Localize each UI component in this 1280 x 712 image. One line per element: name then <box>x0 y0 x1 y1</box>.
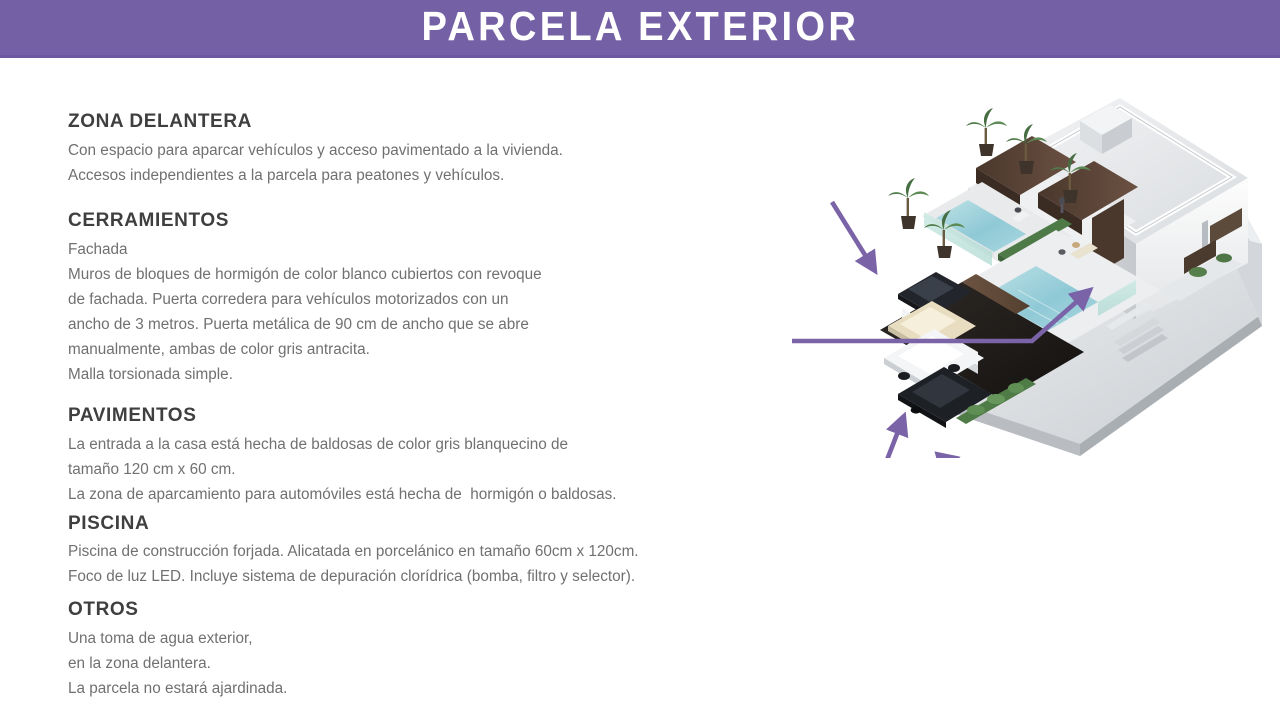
section-spacer <box>68 188 788 210</box>
section-heading-zona-delantera: ZONA DELANTERA <box>68 111 788 133</box>
section-heading-pavimentos: PAVIMENTOS <box>68 405 788 427</box>
section-heading-cerramientos: CERRAMIENTOS <box>68 210 788 232</box>
arrow-zona-aparcamiento <box>832 202 875 271</box>
spec-section-cerramientos: CERRAMIENTOS Fachada Muros de bloques de… <box>68 210 788 387</box>
arrow-aparcamiento-inferior <box>880 416 904 458</box>
spec-section-piscina: PISCINA Piscina de construcción forjada.… <box>68 513 788 590</box>
house-render-illustration <box>780 58 1280 458</box>
section-body-pavimentos: La entrada a la casa está hecha de baldo… <box>68 432 788 507</box>
house-render-svg <box>780 58 1280 458</box>
section-spacer <box>68 589 788 599</box>
section-body-cerramientos: Fachada Muros de bloques de hormigón de … <box>68 237 788 387</box>
specifications-list: ZONA DELANTERA Con espacio para aparcar … <box>68 111 788 701</box>
header-banner: PARCELA EXTERIOR <box>0 0 1280 58</box>
palm-planter-deck <box>888 178 929 229</box>
section-heading-otros: OTROS <box>68 599 788 621</box>
section-heading-piscina: PISCINA <box>68 513 788 535</box>
spec-section-otros: OTROS Una toma de agua exterior, en la z… <box>68 599 788 701</box>
spec-section-zona-delantera: ZONA DELANTERA Con espacio para aparcar … <box>68 111 788 188</box>
section-body-piscina: Piscina de construcción forjada. Alicata… <box>68 539 788 589</box>
page-title: PARCELA EXTERIOR <box>421 6 859 47</box>
section-body-zona-delantera: Con espacio para aparcar vehículos y acc… <box>68 138 788 188</box>
spec-section-pavimentos: PAVIMENTOS La entrada a la casa está hec… <box>68 405 788 507</box>
section-spacer <box>68 387 788 405</box>
section-body-otros: Una toma de agua exterior, en la zona de… <box>68 626 788 701</box>
content-area: ZONA DELANTERA Con espacio para aparcar … <box>0 58 1280 712</box>
